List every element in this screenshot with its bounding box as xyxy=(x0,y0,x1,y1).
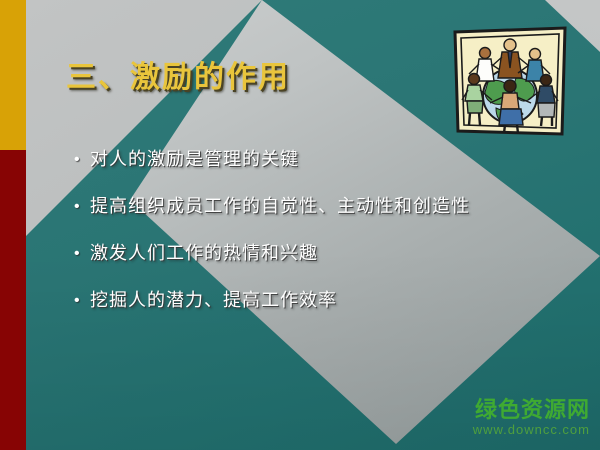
clipart-people-around-globe xyxy=(452,26,568,138)
list-item: • 激发人们工作的热情和兴趣 xyxy=(74,240,474,267)
bullet-text: 对人的激励是管理的关键 xyxy=(90,146,474,173)
left-accent-bar-gold xyxy=(0,0,26,150)
bullet-text: 激发人们工作的热情和兴趣 xyxy=(90,240,474,267)
bullet-text: 提高组织成员工作的自觉性、主动性和创造性 xyxy=(90,193,474,220)
watermark-url: www.downcc.com xyxy=(473,422,590,438)
slide-title: 三、激励的作用 xyxy=(66,52,290,96)
presentation-slide: 三、激励的作用 • 对人的激励是管理的关键 • 提高组织成员工作的自觉性、主动性… xyxy=(0,0,600,450)
bullet-dot-icon: • xyxy=(74,146,90,173)
watermark: 绿色资源网 www.downcc.com xyxy=(473,397,590,438)
list-item: • 提高组织成员工作的自觉性、主动性和创造性 xyxy=(74,193,474,220)
bullet-dot-icon: • xyxy=(74,240,90,267)
left-accent-bar-red xyxy=(0,150,26,450)
bullet-text: 挖掘人的潜力、提高工作效率 xyxy=(90,287,474,314)
bullet-list: • 对人的激励是管理的关键 • 提高组织成员工作的自觉性、主动性和创造性 • 激… xyxy=(74,146,474,334)
list-item: • 对人的激励是管理的关键 xyxy=(74,146,474,173)
bullet-dot-icon: • xyxy=(74,193,90,220)
watermark-site-name: 绿色资源网 xyxy=(473,397,590,422)
list-item: • 挖掘人的潜力、提高工作效率 xyxy=(74,287,474,314)
bullet-dot-icon: • xyxy=(74,287,90,314)
